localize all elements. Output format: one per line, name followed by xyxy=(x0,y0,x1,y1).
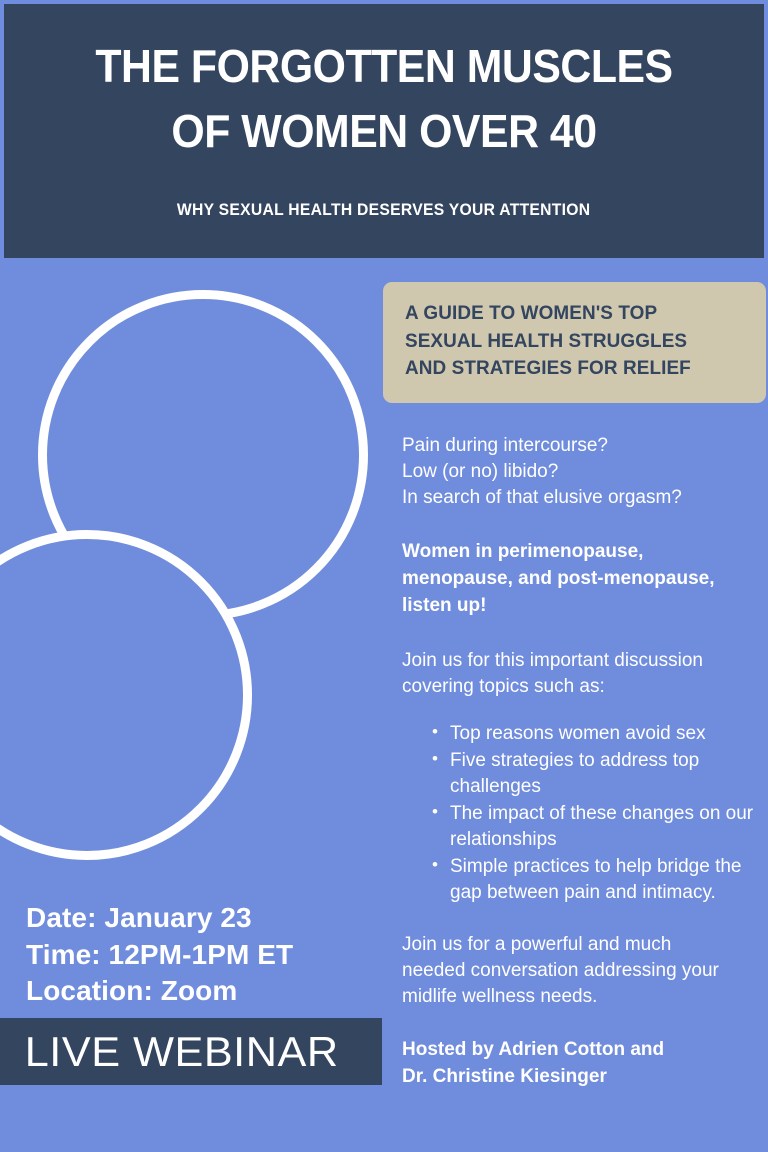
speaker-photos xyxy=(0,258,390,878)
page-subtitle: Why Sexual Health Deserves Your Attentio… xyxy=(177,201,590,220)
question-item: Low (or no) libido? xyxy=(402,459,768,485)
event-location: Location: Zoom xyxy=(26,973,293,1010)
hosted-by-line: Hosted by Adrien Cotton and xyxy=(402,1037,768,1064)
emphasis-line: listen up! xyxy=(402,593,768,620)
callout-line-2: Sexual Health Struggles xyxy=(405,328,736,356)
question-item: In search of that elusive orgasm? xyxy=(402,485,768,511)
poster-header: The Forgotten Muscles of Women Over 40 W… xyxy=(4,4,764,258)
list-item: Top reasons women avoid sex xyxy=(432,721,768,747)
join-intro-line: covering topics such as: xyxy=(402,674,768,700)
list-item: Five strategies to address top challenge… xyxy=(432,748,768,800)
title-line-2: of Women Over 40 xyxy=(59,99,710,164)
list-item: Simple practices to help bridge the gap … xyxy=(432,854,768,906)
event-time: Time: 12PM-1PM ET xyxy=(26,937,293,974)
live-webinar-banner: Live Webinar xyxy=(0,1018,382,1085)
body-copy: Pain during intercourse? Low (or no) lib… xyxy=(383,433,768,1091)
event-details: Date: January 23 Time: 12PM-1PM ET Locat… xyxy=(26,900,293,1010)
closing-line: Join us for a powerful and much xyxy=(402,932,768,958)
emphasis-line: menopause, and post-menopause, xyxy=(402,566,768,593)
closing-line: midlife wellness needs. xyxy=(402,984,768,1010)
join-intro: Join us for this important discussion co… xyxy=(402,648,768,700)
topics-list: Top reasons women avoid sex Five strateg… xyxy=(402,721,768,906)
callout-line-1: A Guide to Women's Top xyxy=(405,300,736,328)
content-column: A Guide to Women's Top Sexual Health Str… xyxy=(383,282,768,1091)
title-line-1: The Forgotten Muscles xyxy=(59,34,710,99)
guide-callout-box: A Guide to Women's Top Sexual Health Str… xyxy=(383,282,766,403)
closing-line: needed conversation addressing your xyxy=(402,958,768,984)
hosted-by: Hosted by Adrien Cotton and Dr. Christin… xyxy=(402,1037,768,1091)
question-item: Pain during intercourse? xyxy=(402,433,768,459)
emphasis-line: Women in perimenopause, xyxy=(402,539,768,566)
event-date: Date: January 23 xyxy=(26,900,293,937)
emphasis-statement: Women in perimenopause, menopause, and p… xyxy=(402,539,768,620)
hosted-by-line: Dr. Christine Kiesinger xyxy=(402,1064,768,1091)
live-webinar-label: Live Webinar xyxy=(0,1028,339,1076)
callout-line-3: and Strategies for Relief xyxy=(405,355,736,383)
join-intro-line: Join us for this important discussion xyxy=(402,648,768,674)
page-title: The Forgotten Muscles of Women Over 40 xyxy=(59,34,710,165)
question-list: Pain during intercourse? Low (or no) lib… xyxy=(402,433,768,511)
list-item: The impact of these changes on our relat… xyxy=(432,801,768,853)
closing-paragraph: Join us for a powerful and much needed c… xyxy=(402,932,768,1010)
webinar-poster: The Forgotten Muscles of Women Over 40 W… xyxy=(0,0,768,1152)
